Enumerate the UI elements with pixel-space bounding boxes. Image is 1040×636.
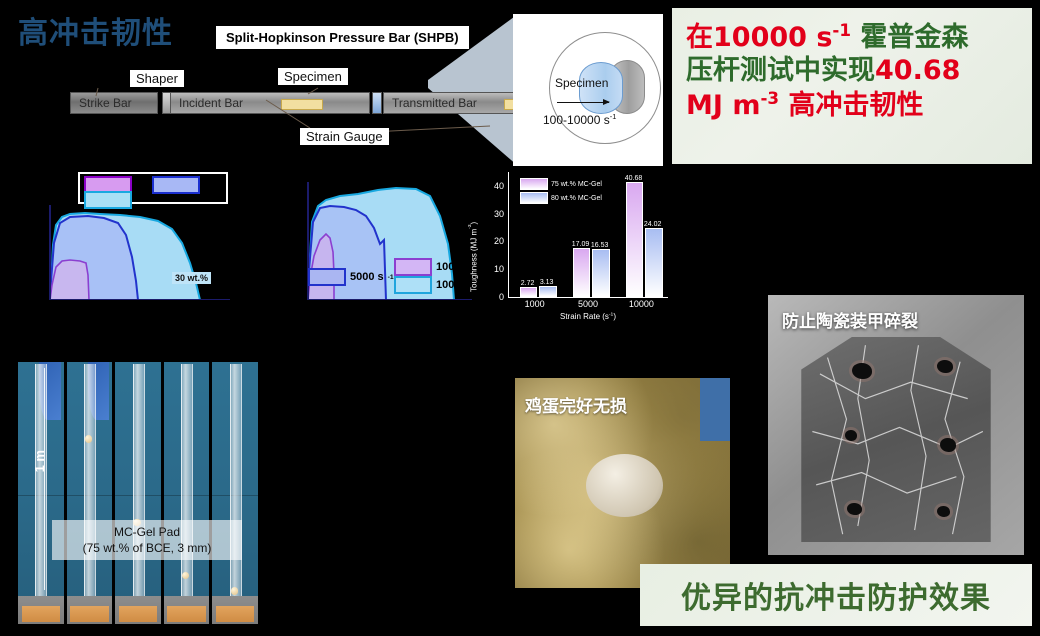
bar-value-label: 3.13 (540, 279, 554, 286)
lab-floor (115, 596, 161, 624)
bar-chart-yticks: 010203040 (482, 172, 504, 297)
bar-chart-xtick: 5000 (578, 299, 598, 309)
crack-pattern (801, 337, 990, 542)
mid-legend-label-5000: 5000 s (350, 271, 384, 283)
impact-mat (119, 606, 157, 622)
headline-l1-sup: -1 (832, 20, 851, 40)
headline-text: 在10000 s-1 霍普金森 压杆测试中实现40.68 MJ m-3 高冲击韧… (672, 8, 1032, 122)
left-chart-annotation: 30 wt.% (172, 272, 211, 284)
bar-legend-label: 75 wt.% MC-Gel (551, 181, 602, 188)
bar-1000-series1 (520, 287, 538, 297)
lab-floor (18, 596, 64, 624)
drop-test-photo-strip: 1 m (18, 362, 258, 624)
impact-mat (167, 606, 205, 622)
legend-swatch-5000 (152, 176, 200, 194)
bar-chart-ytick: 40 (494, 181, 504, 191)
bar-10000-series2 (645, 228, 663, 297)
drop-frame-2 (67, 362, 113, 624)
headline-l1-d: 霍普金森 (851, 22, 968, 53)
shaper-label: Shaper (130, 70, 184, 87)
headline-l3-b: 高冲击韧性 (779, 90, 923, 121)
bar-chart-xlabel-a: Strain Rate (s (560, 312, 609, 321)
bar-chart-xlabel-b: ) (613, 312, 616, 321)
left-stress-strain-chart (40, 205, 230, 300)
mc-gel-pad-caption: MC-Gel Pad (75 wt.% of BCE, 3 mm) (52, 520, 242, 560)
bar-legend-item: 75 wt.% MC-Gel (520, 178, 602, 190)
headline-banner: 在10000 s-1 霍普金森 压杆测试中实现40.68 MJ m-3 高冲击韧… (672, 8, 1032, 164)
impact-hole-4 (940, 438, 956, 452)
acrylic-tube (133, 364, 145, 608)
headline-l1-c: s (807, 22, 832, 53)
egg-photo-label: 鸡蛋完好无损 (525, 392, 627, 417)
mid-legend-label-10000: 10000 (436, 279, 467, 291)
acrylic-tube (35, 364, 47, 608)
bar-legend-swatch (520, 192, 548, 204)
bar-value-label: 2.72 (521, 280, 535, 287)
bar-chart-xlabel: Strain Rate (s-1) (508, 312, 668, 321)
bar-legend-item: 80 wt.% MC-Gel (520, 192, 602, 204)
bar-chart-xtick: 1000 (525, 299, 545, 309)
acrylic-tube (230, 364, 242, 608)
detail-rate-text: 100-10000 s (543, 113, 610, 127)
acrylic-tube (84, 364, 96, 608)
impact-mat (70, 606, 108, 622)
lab-floor (164, 596, 210, 624)
bar-10000-series1 (626, 182, 644, 297)
drop-frame-4 (164, 362, 210, 624)
bar-value-label: 40.68 (625, 175, 643, 182)
bar-5000-series2 (592, 249, 610, 297)
pad-caption-line-2: (75 wt.% of BCE, 3 mm) (54, 540, 240, 556)
egg-impact-photo: 鸡蛋完好无损 (515, 378, 730, 588)
headline-line-2: 压杆测试中实现40.68 (686, 54, 1026, 87)
one-meter-label: 1 m (32, 450, 47, 472)
bar-chart-ylabel-b: ) (470, 222, 479, 225)
bar-legend-swatch (520, 178, 548, 190)
loading-direction-arrow (557, 102, 609, 103)
impact-hole-5 (847, 503, 862, 515)
bar-value-label: 24.02 (644, 221, 662, 228)
impact-hole-3 (845, 430, 857, 441)
detail-specimen-label: Specimen (555, 76, 608, 90)
bar-chart-ytick: 30 (494, 209, 504, 219)
bar-value-label: 17.09 (572, 241, 590, 248)
bar-5000-series1 (573, 248, 591, 297)
ceramic-armor-plate (801, 337, 990, 542)
headline-l1-a: 在 (686, 22, 713, 53)
headline-l3-sup: -3 (760, 88, 779, 108)
headline-line-3: MJ m-3 高冲击韧性 (686, 88, 1026, 122)
bar-legend-label: 80 wt.% MC-Gel (551, 195, 602, 202)
bar-chart-xticks: 1000500010000 (508, 299, 668, 311)
strain-gauge-label: Strain Gauge (300, 128, 389, 145)
bottom-banner-text: 优异的抗冲击防护效果 (681, 573, 991, 617)
bar-1000-series2 (539, 286, 557, 297)
bar-chart-ytick: 10 (494, 264, 504, 274)
mid-legend-label-1000: 1000 (436, 261, 460, 273)
intact-egg (586, 454, 663, 517)
bar-chart-ytick: 0 (499, 292, 504, 302)
headline-line-1: 在10000 s-1 霍普金森 (686, 20, 1026, 54)
pad-caption-line-1: MC-Gel Pad (54, 524, 240, 540)
one-meter-ruler-line (44, 368, 45, 590)
lab-floor (67, 596, 113, 624)
headline-l1-b: 10000 (713, 22, 807, 53)
mid-legend-5000: 5000 s-1 (308, 268, 394, 286)
page-title: 高冲击韧性 (18, 8, 173, 52)
armor-photo-label: 防止陶瓷装甲碎裂 (782, 307, 918, 332)
mid-legend-1000: 1000 (394, 258, 460, 276)
bottom-banner: 优异的抗冲击防护效果 (640, 564, 1032, 626)
headline-l3-a: MJ m (686, 90, 760, 121)
headline-l2-b: 40.68 (875, 55, 960, 86)
lab-floor (212, 596, 258, 624)
drop-frame-3 (115, 362, 161, 624)
left-chart-legend-box (78, 172, 228, 204)
mid-legend-swatch-5000 (308, 268, 346, 286)
falling-ball (85, 435, 92, 442)
bar-chart-xtick: 10000 (629, 299, 654, 309)
shpb-detail-panel: Specimen 100-10000 s-1 (513, 14, 663, 166)
background-sky (700, 378, 730, 441)
bar-value-label: 16.53 (591, 242, 609, 249)
bar-chart-ylabel: Toughness (MJ m-3) (468, 182, 480, 292)
bar-chart-ylabel-sup: -3 (468, 224, 473, 228)
toughness-bar-chart: Toughness (MJ m-3) 010203040 2.723.1317.… (472, 172, 668, 318)
mid-legend-swatch-1000 (394, 258, 432, 276)
mid-legend-sup-5000: -1 (388, 274, 394, 281)
impact-hole-1 (852, 363, 872, 379)
impact-mat (216, 606, 254, 622)
detail-strain-rate-label: 100-10000 s-1 (543, 112, 616, 127)
impact-mat (22, 606, 60, 622)
drop-frame-1 (18, 362, 64, 624)
bar-chart-legend: 75 wt.% MC-Gel80 wt.% MC-Gel (520, 178, 602, 206)
drop-frame-5 (212, 362, 258, 624)
mid-legend-10000: 10000 (394, 276, 467, 294)
bar-chart-ylabel-a: Toughness (MJ m (470, 229, 479, 292)
bar-chart-ytick: 20 (494, 236, 504, 246)
headline-l2-a: 压杆测试中实现 (686, 55, 875, 86)
mid-legend-swatch-10000 (394, 276, 432, 294)
rebounding-ball (231, 587, 238, 594)
impact-hole-6 (937, 506, 950, 517)
detail-rate-exp: -1 (610, 112, 617, 121)
specimen-label: Specimen (278, 68, 348, 85)
ceramic-armor-photo: 防止陶瓷装甲碎裂 (768, 295, 1024, 555)
impact-hole-2 (937, 360, 953, 373)
